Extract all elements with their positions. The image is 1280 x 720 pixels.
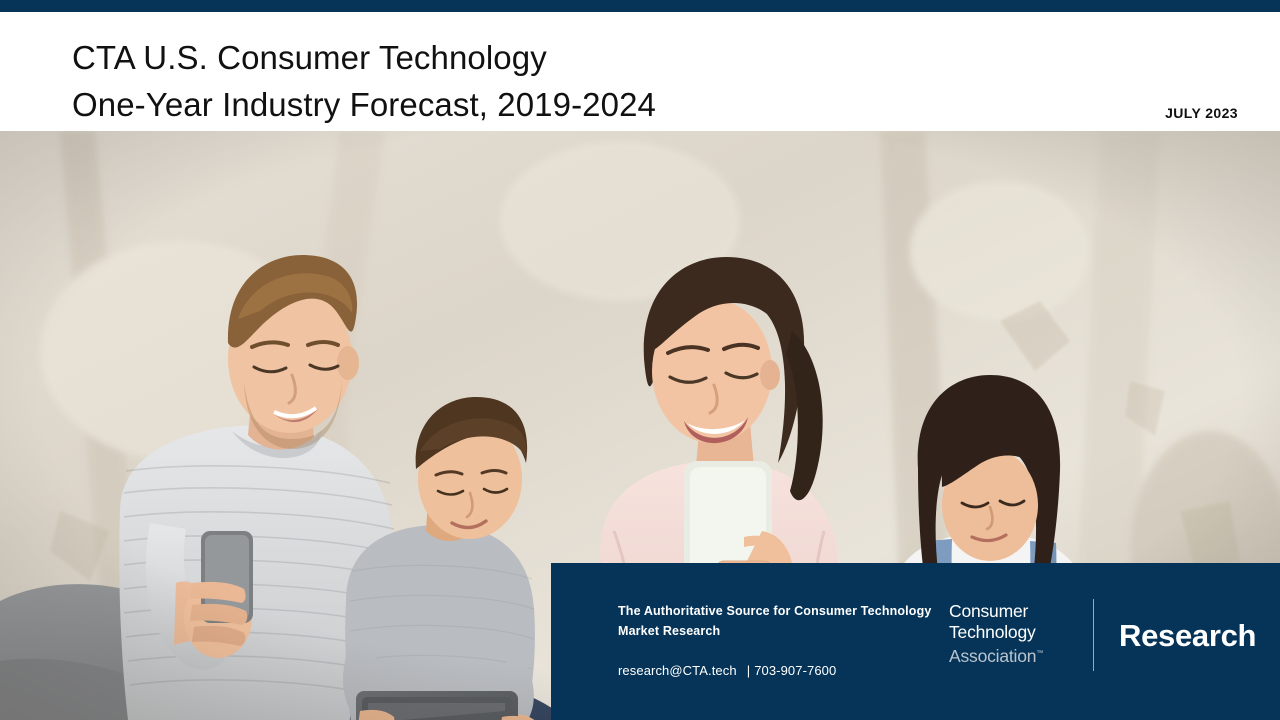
logo-line-association: Association™ <box>949 643 1043 667</box>
cta-research-logo: Consumer Technology Association™ Researc… <box>949 601 1249 673</box>
logo-divider <box>1093 599 1094 671</box>
footer-tagline: The Authoritative Source for Consumer Te… <box>618 601 948 641</box>
title-block: CTA U.S. Consumer TechnologyOne-Year Ind… <box>0 12 1280 131</box>
footer-phone[interactable]: 703-907-7600 <box>754 663 836 678</box>
logo-line-technology: Technology <box>949 622 1079 643</box>
trademark-icon: ™ <box>1036 650 1043 657</box>
logo-line-consumer: Consumer <box>949 601 1079 622</box>
title-line-2: One-Year Industry Forecast, 2019-2024 <box>72 81 872 128</box>
logo-product-research: Research <box>1119 618 1256 654</box>
report-cover-slide: CTA U.S. Consumer TechnologyOne-Year Ind… <box>0 0 1280 720</box>
logo-association-text: Association <box>949 646 1036 666</box>
footer-separator: | <box>737 663 754 678</box>
page-title: CTA U.S. Consumer TechnologyOne-Year Ind… <box>72 34 872 128</box>
title-line-1: CTA U.S. Consumer Technology <box>72 39 547 76</box>
footer-email[interactable]: research@CTA.tech <box>618 663 737 678</box>
cta-wordmark: Consumer Technology Association™ <box>949 601 1079 667</box>
publication-date: JULY 2023 <box>1165 105 1238 121</box>
footer-panel: The Authoritative Source for Consumer Te… <box>551 563 1280 720</box>
footer-contact: research@CTA.tech|703-907-7600 <box>618 663 978 678</box>
top-accent-bar <box>0 0 1280 12</box>
